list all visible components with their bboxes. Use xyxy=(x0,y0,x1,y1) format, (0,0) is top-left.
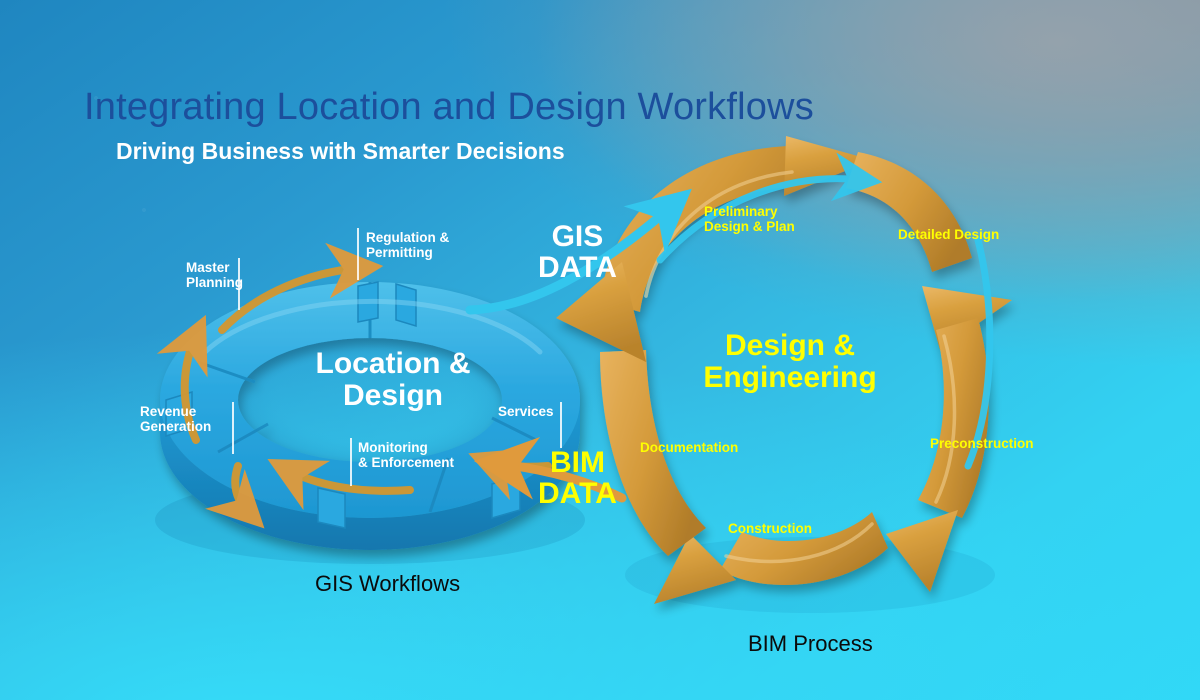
gis-cycle-center-label: Location & Design xyxy=(308,348,478,413)
bim-cycle-center-label: Design & Engineering xyxy=(690,330,890,395)
bim-stage-label-preconstruction: Preconstruction xyxy=(930,436,1034,451)
gis-leader-monitoring xyxy=(350,438,352,486)
gis-leader-master-planning xyxy=(238,258,240,310)
gis-leader-services xyxy=(560,402,562,448)
bim-stage-label-construction: Construction xyxy=(728,521,812,536)
bim-data-flow-label: BIM DATA xyxy=(538,448,617,509)
bim-stage-label-documentation: Documentation xyxy=(640,440,738,455)
page-subtitle: Driving Business with Smarter Decisions xyxy=(116,138,565,165)
bim-stage-label-detailed: Detailed Design xyxy=(898,227,999,242)
bim-stage-label-preliminary: Preliminary Design & Plan xyxy=(704,204,795,234)
page-title: Integrating Location and Design Workflow… xyxy=(84,86,814,129)
diagram-canvas: Integrating Location and Design Workflow… xyxy=(0,0,1200,700)
bim-process-caption: BIM Process xyxy=(748,631,873,657)
gis-stage-label-regulation: Regulation & Permitting xyxy=(366,230,449,260)
labels-layer: Integrating Location and Design Workflow… xyxy=(0,0,1200,700)
gis-stage-label-revenue: Revenue Generation xyxy=(140,404,211,434)
gis-stage-label-master-planning: Master Planning xyxy=(186,260,243,290)
gis-stage-label-monitoring: Monitoring & Enforcement xyxy=(358,440,454,470)
gis-workflows-caption: GIS Workflows xyxy=(315,571,460,597)
gis-leader-regulation xyxy=(357,228,359,280)
gis-leader-revenue xyxy=(232,402,234,454)
gis-stage-label-services: Services xyxy=(498,404,554,419)
gis-data-flow-label: GIS DATA xyxy=(538,222,617,283)
